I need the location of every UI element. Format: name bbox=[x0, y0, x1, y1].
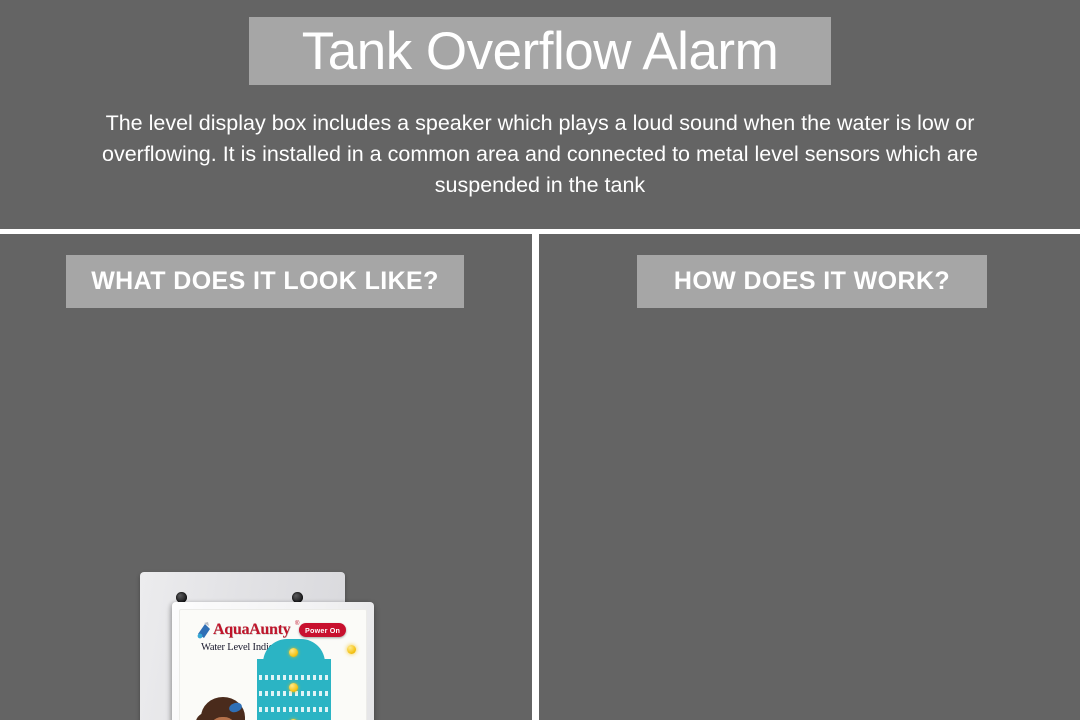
panel-product-photo: AquaAunty ® Water Level Indicator bbox=[0, 234, 532, 720]
brand-name: AquaAunty bbox=[213, 622, 290, 638]
vertical-divider bbox=[532, 234, 539, 720]
water-level-indicator-device: AquaAunty ® Water Level Indicator bbox=[130, 564, 410, 720]
page-subtitle: The level display box includes a speaker… bbox=[80, 108, 1000, 201]
label-led-indicator bbox=[289, 648, 298, 657]
power-led-indicator bbox=[347, 645, 356, 654]
status-badge-power-on: Power On bbox=[299, 623, 346, 637]
label-led-indicator bbox=[289, 683, 298, 692]
page-title-band: Tank Overflow Alarm bbox=[249, 17, 831, 85]
page-title: Tank Overflow Alarm bbox=[302, 25, 778, 78]
label-tank-stripe bbox=[259, 675, 329, 680]
panel-how-it-works bbox=[539, 234, 1080, 720]
infographic-page: Tank Overflow Alarm The level display bo… bbox=[0, 0, 1080, 720]
device-front-body: AquaAunty ® Water Level Indicator bbox=[172, 602, 374, 720]
device-label-face: AquaAunty ® Water Level Indicator bbox=[179, 609, 367, 720]
label-woman-illustration bbox=[191, 697, 277, 720]
